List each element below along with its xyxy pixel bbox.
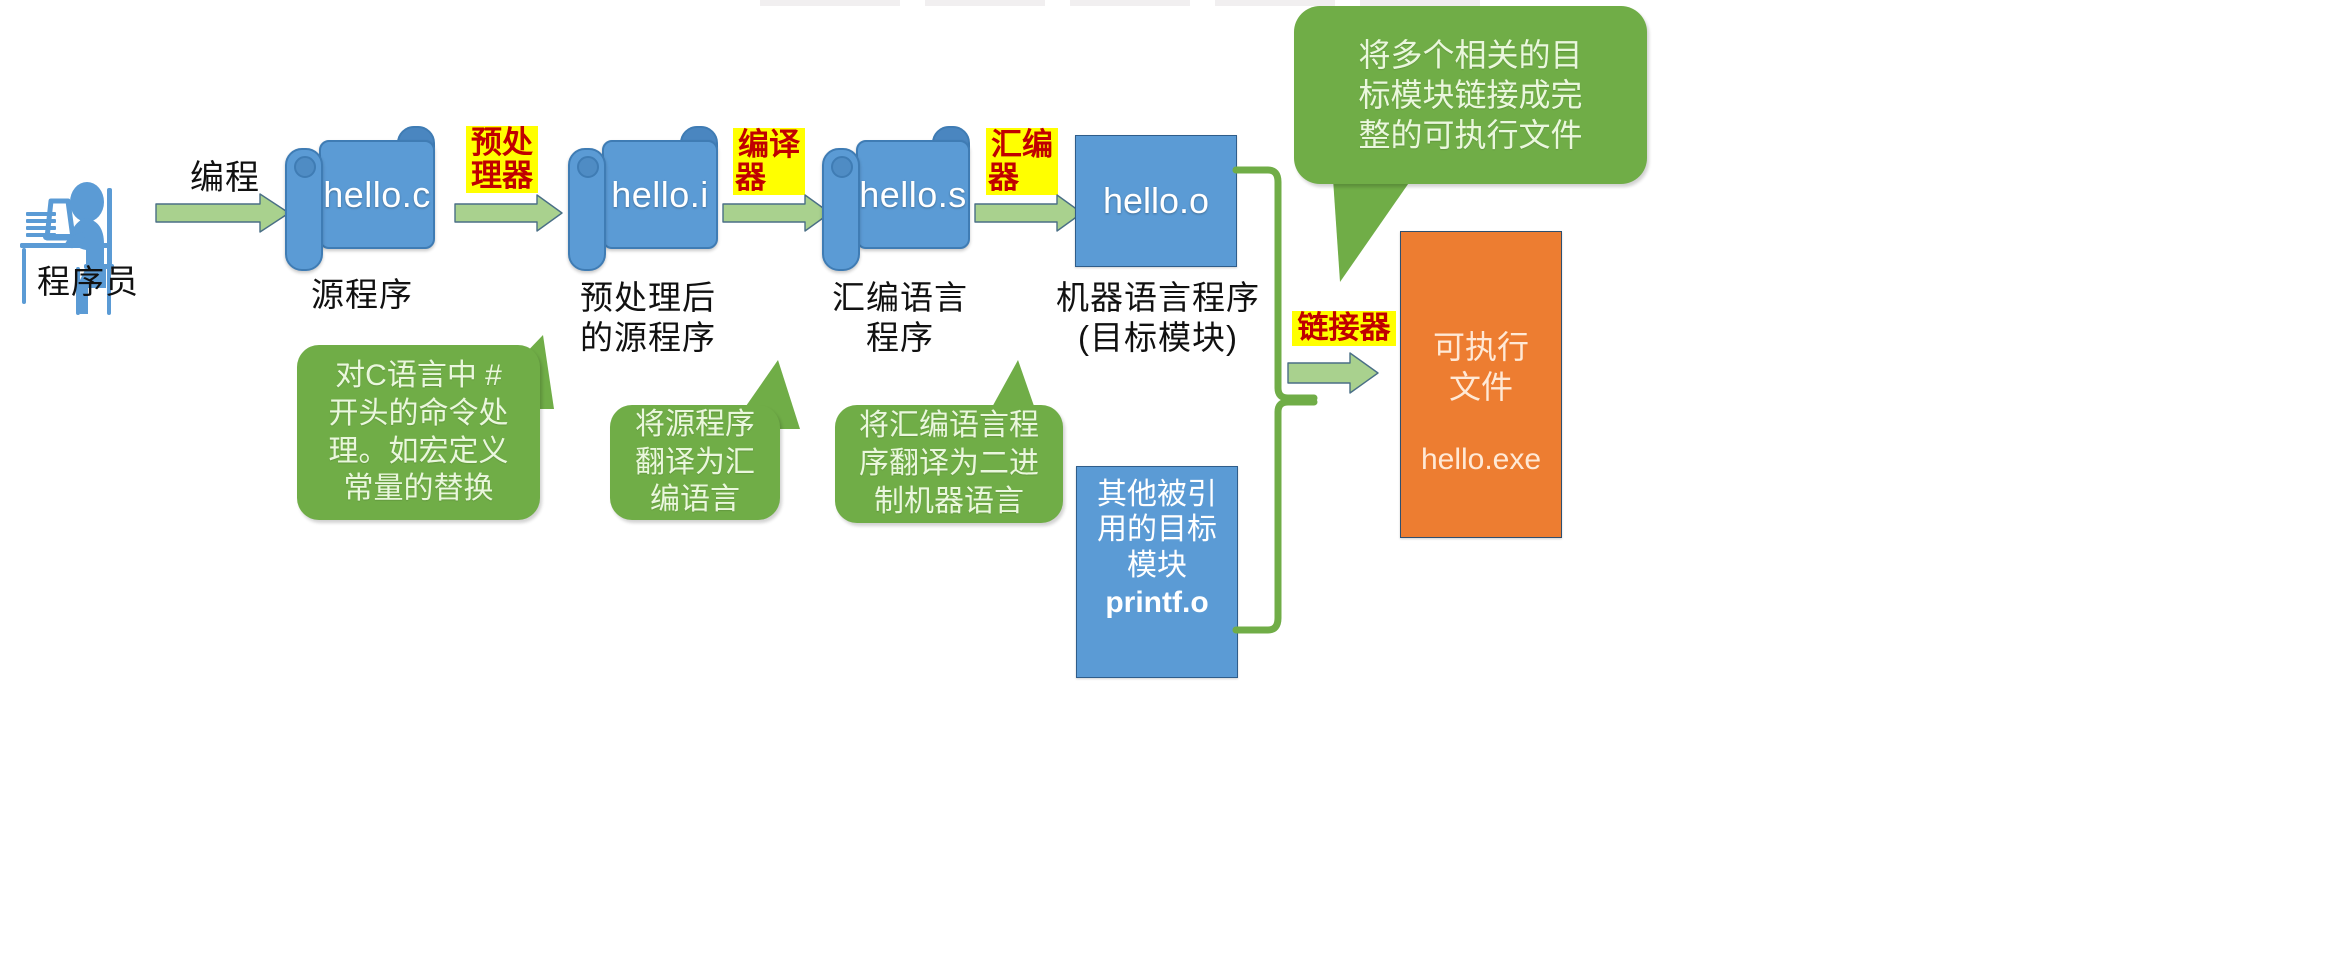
- compiler-callout-line3: 编语言: [635, 481, 755, 519]
- preprocessor-callout-line4: 常量的替换: [329, 470, 509, 508]
- preprocess-arrow: [455, 194, 563, 232]
- link-arrow: [1288, 351, 1380, 395]
- linker-callout: 将多个相关的目 标模块链接成完 整的可执行文件: [1294, 6, 1647, 184]
- hello-s-caption: 汇编语言 程序: [810, 278, 990, 357]
- preprocessor-label-line2: 理器: [468, 160, 536, 193]
- other-module-line1: 其他被引: [1097, 477, 1217, 512]
- hello-s-filename: hello.s: [856, 140, 970, 249]
- assembler-callout-line3: 制机器语言: [859, 483, 1039, 521]
- programmer-caption: 程序员: [8, 262, 168, 302]
- hello-s-scroll: hello.s: [822, 126, 970, 271]
- scroll-roll-left: [568, 148, 606, 271]
- other-module-line2: 用的目标: [1097, 512, 1217, 547]
- executable-filename: hello.exe: [1421, 441, 1541, 479]
- linker-callout-line1: 将多个相关的目: [1358, 35, 1582, 75]
- hello-i-caption: 预处理后 的源程序: [558, 278, 738, 357]
- assembler-label-line2: 器: [988, 162, 1056, 195]
- assemble-arrow: [975, 194, 1083, 232]
- programming-arrow: [156, 192, 290, 234]
- other-module-filename: printf.o: [1097, 585, 1217, 620]
- hello-c-filename: hello.c: [319, 140, 435, 249]
- compiler-callout: 将源程序 翻译为汇 编语言: [610, 405, 780, 520]
- assembler-callout: 将汇编语言程 序翻译为二进 制机器语言: [835, 405, 1063, 523]
- preprocessor-highlight-label: 预处 理器: [466, 126, 538, 193]
- hello-o-filename: hello.o: [1103, 180, 1209, 222]
- preprocessor-callout-line2: 开头的命令处: [329, 395, 509, 433]
- executable-line1: 可执行: [1433, 327, 1529, 367]
- preprocessor-callout-line3: 理。如宏定义: [329, 433, 509, 471]
- hello-i-filename: hello.i: [602, 140, 718, 249]
- scroll-roll-left: [285, 148, 323, 271]
- hello-c-caption: 源程序: [272, 275, 452, 315]
- hello-s-caption-line1: 汇编语言: [810, 278, 990, 318]
- preprocessor-callout: 对C语言中 # 开头的命令处 理。如宏定义 常量的替换: [297, 345, 540, 520]
- compiler-callout-line2: 翻译为汇: [635, 444, 755, 482]
- scroll-roll-left: [822, 148, 860, 271]
- linker-highlight-label: 链接器: [1292, 311, 1396, 346]
- compile-arrow: [723, 194, 831, 232]
- preprocessor-label-line1: 预处: [468, 127, 536, 160]
- executable-box: 可执行 文件 hello.exe: [1400, 231, 1562, 538]
- linker-label: 链接器: [1298, 310, 1391, 345]
- hello-i-caption-line2: 的源程序: [558, 318, 738, 358]
- hello-i-caption-line1: 预处理后: [558, 278, 738, 318]
- hello-s-caption-line2: 程序: [810, 318, 990, 358]
- top-cut-artifact: [760, 0, 900, 6]
- hello-o-box: hello.o: [1075, 135, 1237, 267]
- executable-line2: 文件: [1433, 367, 1529, 407]
- preprocessor-callout-line1: 对C语言中 #: [329, 357, 509, 395]
- assembler-callout-line1: 将汇编语言程: [859, 407, 1039, 445]
- diagram-canvas: 程序员 编程 hello.c 源程序 预处 理器 对C语言中 # 开头的命令处 …: [0, 0, 2347, 955]
- compiler-callout-line1: 将源程序: [635, 406, 755, 444]
- linker-callout-line3: 整的可执行文件: [1358, 115, 1582, 155]
- compiler-label-line1: 编译: [735, 129, 803, 162]
- assembler-callout-line2: 序翻译为二进: [859, 445, 1039, 483]
- other-module-line3: 模块: [1097, 548, 1217, 583]
- assembler-highlight-label: 汇编 器: [986, 128, 1058, 195]
- compiler-label-line2: 器: [735, 162, 803, 195]
- compiler-highlight-label: 编译 器: [733, 128, 805, 195]
- hello-c-scroll: hello.c: [285, 126, 435, 271]
- top-cut-artifact: [925, 0, 1045, 6]
- assembler-label-line1: 汇编: [988, 129, 1056, 162]
- hello-i-scroll: hello.i: [568, 126, 718, 271]
- top-cut-artifact: [1070, 0, 1190, 6]
- other-object-module-box: 其他被引 用的目标 模块 printf.o: [1076, 466, 1238, 678]
- linker-callout-line2: 标模块链接成完: [1358, 75, 1582, 115]
